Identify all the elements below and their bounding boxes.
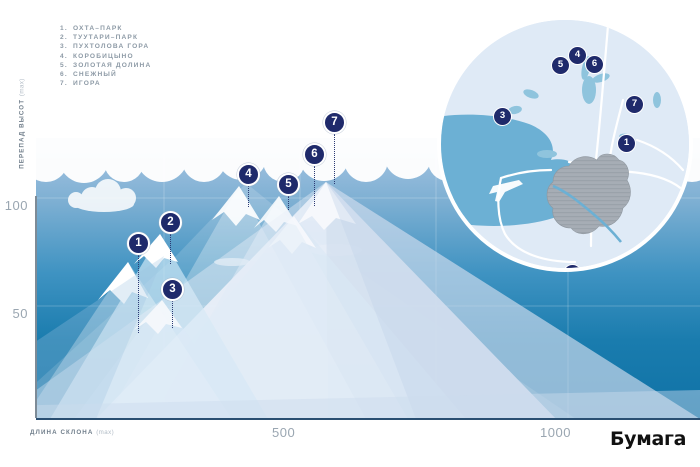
x-tick-500: 500: [272, 425, 295, 440]
legend-item-number: 4.: [60, 52, 73, 61]
map-inset: 5467312: [437, 16, 693, 272]
marker-leader-5: [288, 196, 289, 210]
y-axis-line: [35, 196, 37, 418]
legend-item-label: ТУУТАРИ–ПАРК: [73, 33, 138, 42]
legend-item-4: 4.КОРОБИЦЫНО: [60, 52, 151, 61]
legend-item-number: 7.: [60, 79, 73, 88]
legend: 1.ОХТА–ПАРК2.ТУУТАРИ–ПАРК3.ПУХТОЛОВА ГОР…: [60, 24, 151, 88]
legend-item-number: 3.: [60, 42, 73, 51]
chart-marker-3[interactable]: 3: [161, 278, 184, 301]
legend-item-label: КОРОБИЦЫНО: [73, 52, 134, 61]
legend-item-1: 1.ОХТА–ПАРК: [60, 24, 151, 33]
marker-leader-2: [170, 234, 171, 264]
y-axis-title-unit: (max): [19, 78, 26, 96]
legend-item-5: 5.ЗОЛОТАЯ ДОЛИНА: [60, 61, 151, 70]
marker-leader-6: [314, 166, 315, 206]
chart-marker-1[interactable]: 1: [127, 232, 150, 255]
map-marker-7[interactable]: 7: [625, 95, 644, 114]
chart-marker-4[interactable]: 4: [237, 163, 260, 186]
legend-item-3: 3.ПУХТОЛОВА ГОРА: [60, 42, 151, 51]
legend-item-label: ОХТА–ПАРК: [73, 24, 123, 33]
chart-marker-7[interactable]: 7: [323, 111, 346, 134]
y-axis-title: ПЕРЕПАД ВЫСОТ (max): [19, 74, 26, 174]
map-marker-3[interactable]: 3: [493, 107, 512, 126]
marker-leader-7: [334, 134, 335, 184]
legend-item-number: 6.: [60, 70, 73, 79]
legend-item-label: СНЕЖНЫЙ: [73, 70, 117, 79]
x-axis-title-text: ДЛИНА СКЛОНА: [30, 429, 93, 436]
legend-item-7: 7.ИГОРА: [60, 79, 151, 88]
x-axis-title: ДЛИНА СКЛОНА (max): [30, 429, 114, 436]
chart-marker-5[interactable]: 5: [277, 173, 300, 196]
legend-item-label: ЗОЛОТАЯ ДОЛИНА: [73, 61, 151, 70]
y-tick-50: 50: [0, 306, 28, 321]
x-tick-1000: 1000: [540, 425, 571, 440]
y-axis-title-text: ПЕРЕПАД ВЫСОТ: [19, 99, 26, 169]
brand-logo: Бумага: [610, 428, 686, 450]
legend-item-label: ПУХТОЛОВА ГОРА: [73, 42, 149, 51]
chart-marker-2[interactable]: 2: [159, 211, 182, 234]
x-axis-title-unit: (max): [96, 429, 114, 436]
legend-item-label: ИГОРА: [73, 79, 101, 88]
marker-leader-4: [248, 186, 249, 207]
x-axis-line: [36, 418, 700, 420]
legend-item-number: 1.: [60, 24, 73, 33]
legend-item-number: 5.: [60, 61, 73, 70]
legend-item-6: 6.СНЕЖНЫЙ: [60, 70, 151, 79]
map-circle: 5467312: [437, 16, 693, 272]
y-tick-100: 100: [0, 198, 28, 213]
marker-leader-3: [172, 301, 173, 328]
legend-item-number: 2.: [60, 33, 73, 42]
legend-item-2: 2.ТУУТАРИ–ПАРК: [60, 33, 151, 42]
chart-marker-6[interactable]: 6: [303, 143, 326, 166]
map-marker-6[interactable]: 6: [585, 55, 604, 74]
map-marker-1[interactable]: 1: [617, 134, 636, 153]
map-marker-5[interactable]: 5: [551, 56, 570, 75]
marker-leader-1: [138, 255, 139, 333]
